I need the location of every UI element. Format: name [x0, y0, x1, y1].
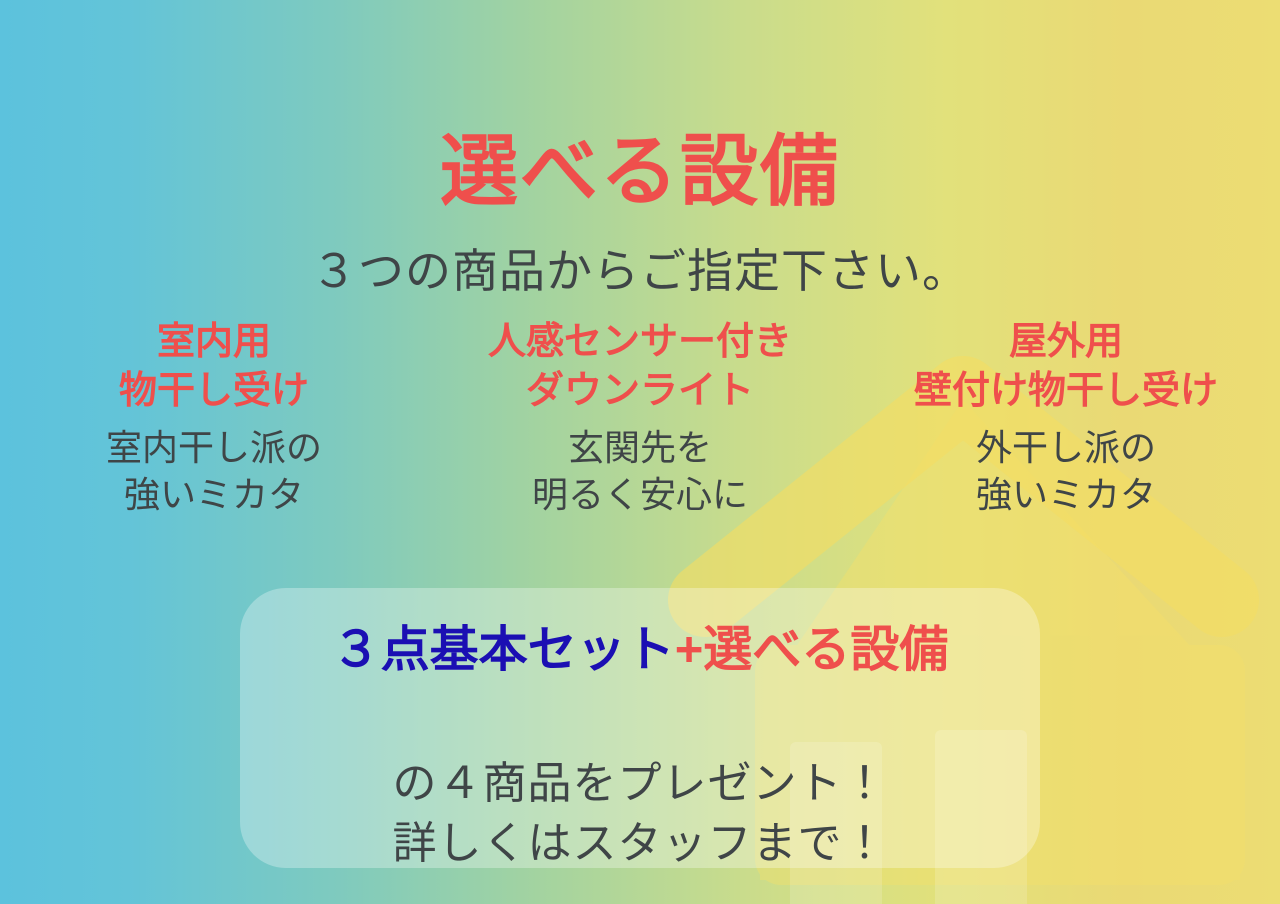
option-desc-outdoor: 外干し派の 強いミカタ — [853, 425, 1279, 519]
option-desc-line1: 外干し派の — [976, 427, 1156, 468]
page-title: 選べる設備 — [0, 130, 1280, 213]
option-desc-line1: 玄関先を — [568, 427, 712, 468]
option-card-downlight[interactable]: 人感センサー付き ダウンライト 玄関先を 明るく安心に — [427, 318, 853, 519]
promo-plus-sign: + — [675, 623, 704, 677]
promo-line-3: 詳しくはスタッフまで！ — [0, 807, 1280, 871]
poster-canvas: 選べる設備 ３つの商品からご指定下さい。 室内用 物干し受け 室内干し派の 強い… — [0, 0, 1280, 904]
promo-base-set-label: ３点基本セット — [332, 623, 675, 677]
option-name-indoor: 室内用 物干し受け — [1, 318, 427, 415]
option-desc-line2: 強いミカタ — [1, 472, 427, 519]
promo-equipment-label: 選べる設備 — [703, 623, 948, 677]
option-desc-line2: 強いミカタ — [853, 472, 1279, 519]
promo-headline: ３点基本セット+選べる設備 — [0, 624, 1280, 678]
option-name-line2: 壁付け物干し受け — [853, 367, 1279, 416]
option-name-line1: 屋外用 — [1009, 321, 1123, 363]
option-desc-indoor: 室内干し派の 強いミカタ — [1, 425, 427, 519]
option-desc-downlight: 玄関先を 明るく安心に — [427, 425, 853, 519]
option-desc-line1: 室内干し派の — [106, 427, 322, 468]
options-row: 室内用 物干し受け 室内干し派の 強いミカタ 人感センサー付き ダウンライト 玄… — [0, 318, 1280, 519]
option-name-line2: 物干し受け — [1, 367, 427, 416]
option-name-line2: ダウンライト — [427, 367, 853, 416]
option-name-line1: 室内用 — [157, 321, 271, 363]
promo-line-2: の４商品をプレゼント！ — [0, 747, 1280, 811]
page-subtitle: ３つの商品からご指定下さい。 — [0, 246, 1280, 297]
option-name-line1: 人感センサー付き — [488, 321, 792, 363]
option-card-outdoor[interactable]: 屋外用 壁付け物干し受け 外干し派の 強いミカタ — [853, 318, 1279, 519]
option-desc-line2: 明るく安心に — [427, 472, 853, 519]
option-name-outdoor: 屋外用 壁付け物干し受け — [853, 318, 1279, 415]
option-card-indoor[interactable]: 室内用 物干し受け 室内干し派の 強いミカタ — [1, 318, 427, 519]
option-name-downlight: 人感センサー付き ダウンライト — [427, 318, 853, 415]
